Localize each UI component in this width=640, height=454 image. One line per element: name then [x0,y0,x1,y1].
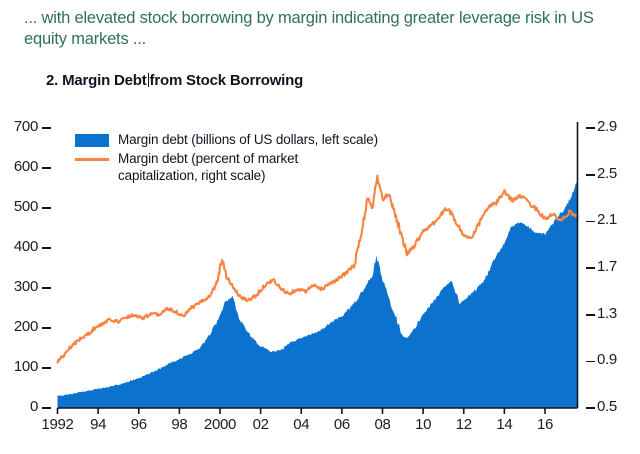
y-axis-left-tick-label: 700 [0,118,38,135]
y-axis-right-tick [586,174,595,176]
y-axis-left-tick-label: 300 [0,278,38,295]
chart-page: ... with elevated stock borrowing by mar… [0,0,640,449]
y-axis-left-tick-label: 600 [0,158,38,175]
chart-svg [0,0,640,449]
y-axis-left-tick [42,207,51,209]
y-axis-left-tick [42,327,51,329]
y-axis-left-tick-label: 100 [0,358,38,375]
y-axis-left-tick-label: 0 [0,398,38,415]
y-axis-left-tick [42,247,51,249]
y-axis-right-tick [586,267,595,269]
y-axis-left-tick [42,287,51,289]
y-axis-left-tick-label: 200 [0,318,38,335]
y-axis-right-tick [586,127,595,129]
y-axis-right-tick-label: 2.5 [597,165,637,182]
y-axis-left-tick-label: 400 [0,238,38,255]
y-axis-left-tick [42,127,51,129]
y-axis-left-tick-label: 500 [0,198,38,215]
y-axis-right-tick-label: 0.5 [597,398,637,415]
y-axis-left-tick [42,407,51,409]
y-axis-left-tick [42,167,51,169]
y-axis-right-tick-label: 0.9 [597,351,637,368]
y-axis-right-tick [586,407,595,409]
y-axis-right-tick-label: 1.3 [597,305,637,322]
y-axis-right-tick [586,361,595,363]
y-axis-right-tick [586,314,595,316]
y-axis-right-tick [586,221,595,223]
y-axis-right-tick-label: 1.7 [597,258,637,275]
x-axis-tick-label: 16 [520,416,570,433]
plot-area [0,0,640,449]
y-axis-right-tick-label: 2.9 [597,118,637,135]
y-axis-left-tick [42,367,51,369]
y-axis-right-tick-label: 2.1 [597,211,637,228]
